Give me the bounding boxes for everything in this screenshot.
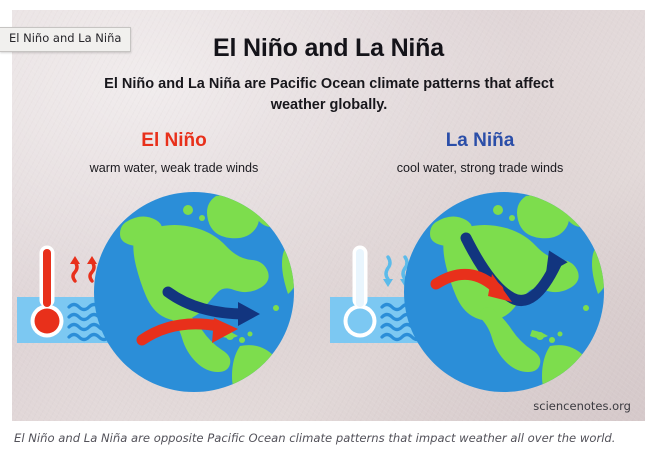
image-caption: El Niño and La Niña are opposite Pacific… — [14, 431, 644, 446]
watermark-sciencenotes: sciencenotes.org — [533, 399, 631, 413]
column-heading-la-nina: La Niña cool water, strong trade winds — [340, 130, 620, 176]
column-description-la-nina: cool water, strong trade winds — [340, 161, 620, 176]
infographic-panel: El Niño and La Niña El Niño and La Niña … — [12, 10, 645, 421]
globe-la-nina-icon — [400, 188, 608, 396]
column-title-la-nina: La Niña — [340, 130, 620, 152]
column-heading-el-nino: El Niño warm water, weak trade winds — [34, 130, 314, 176]
screenshot-root: El Niño and La Niña El Niño and La Niña … — [0, 0, 655, 455]
globe-el-nino-icon — [90, 188, 298, 396]
column-description-el-nino: warm water, weak trade winds — [34, 161, 314, 176]
page-subtitle: El Niño and La Niña are Pacific Ocean cl… — [84, 74, 574, 116]
image-title-tooltip: El Niño and La Niña — [0, 27, 131, 52]
column-title-el-nino: El Niño — [34, 130, 314, 152]
